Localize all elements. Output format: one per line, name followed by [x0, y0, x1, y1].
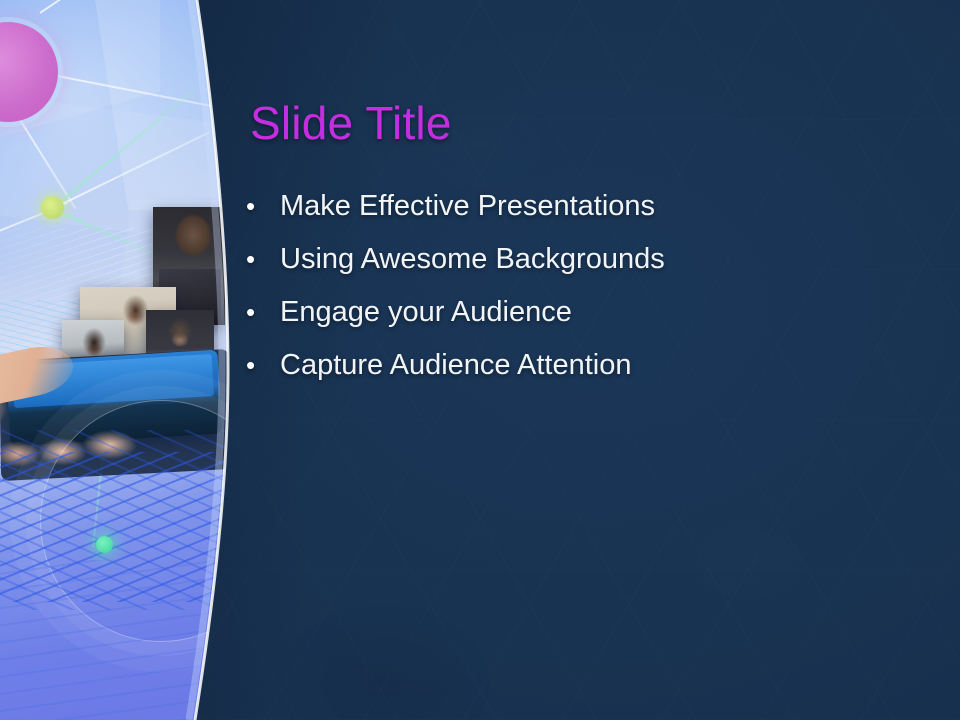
list-item: • Make Effective Presentations [246, 190, 906, 243]
bullet-text: Engage your Audience [280, 296, 906, 329]
bullet-marker-icon: • [246, 299, 280, 325]
slide-content: Slide Title • Make Effective Presentatio… [246, 0, 926, 720]
green-node [41, 196, 64, 219]
list-item: • Capture Audience Attention [246, 349, 906, 402]
page-title: Slide Title [250, 96, 452, 150]
bullet-marker-icon: • [246, 352, 280, 378]
bullet-text: Make Effective Presentations [280, 190, 906, 223]
list-item: • Engage your Audience [246, 296, 906, 349]
list-item: • Using Awesome Backgrounds [246, 243, 906, 296]
teal-node [96, 536, 113, 553]
bullet-list: • Make Effective Presentations • Using A… [246, 190, 906, 402]
presentation-slide: Slide Title • Make Effective Presentatio… [0, 0, 960, 720]
bullet-text: Using Awesome Backgrounds [280, 243, 906, 276]
left-graphic-panel [0, 0, 240, 720]
bullet-marker-icon: • [246, 193, 280, 219]
bullet-text: Capture Audience Attention [280, 349, 906, 382]
bullet-marker-icon: • [246, 246, 280, 272]
